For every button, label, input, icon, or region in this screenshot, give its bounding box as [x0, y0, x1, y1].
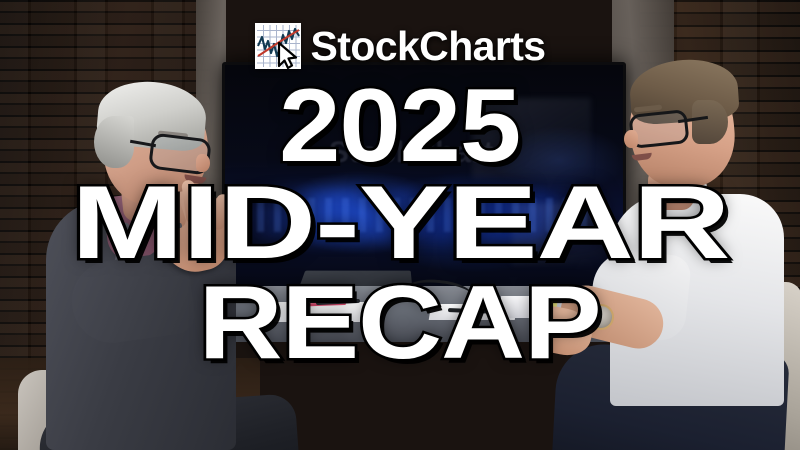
person-right-hair-side	[692, 100, 728, 144]
thumbnail-stage: StockCharts	[0, 0, 800, 450]
person-right	[596, 46, 800, 450]
person-left-nose	[196, 154, 210, 172]
monitor-desk-row	[257, 198, 591, 231]
person-left	[18, 72, 298, 450]
person-left-hair-side	[94, 116, 134, 168]
person-right-nose	[624, 130, 638, 148]
monitor-watermark-text: StockCharts	[261, 136, 579, 170]
